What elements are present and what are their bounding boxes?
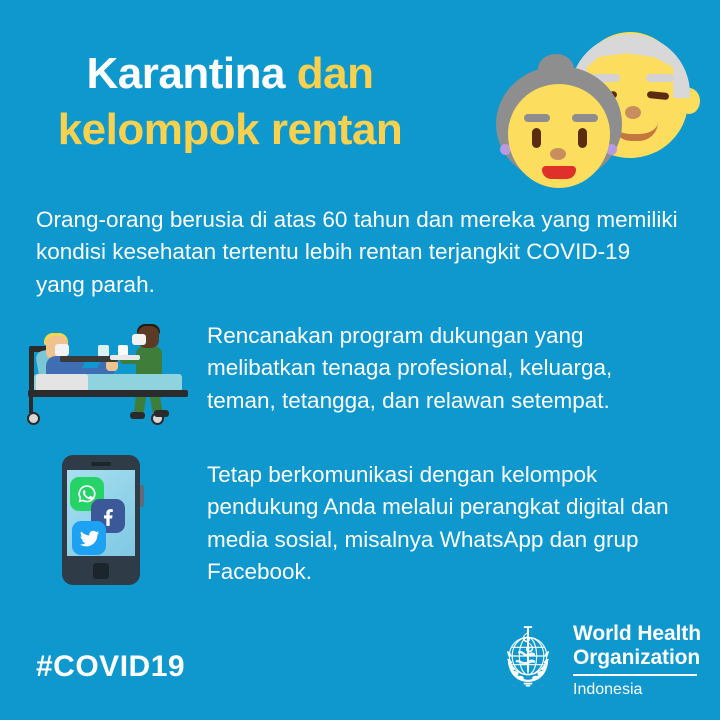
who-country-label: Indonesia <box>573 681 701 699</box>
bed-frame-rail <box>28 390 188 397</box>
who-name-line-2: Organization <box>573 646 701 670</box>
poster-title: Karantina dan kelompok rentan <box>0 46 460 159</box>
older-woman-mouth <box>542 166 576 179</box>
intro-paragraph: Orang-orang berusia di atas 60 tahun dan… <box>36 204 684 301</box>
title-word-dan: dan <box>297 49 374 98</box>
who-emblem-icon <box>492 620 564 692</box>
smartphone-illustration <box>62 455 154 587</box>
title-line-1: Karantina dan <box>0 46 460 102</box>
phone-home-button <box>93 563 109 579</box>
older-man-eyebrow-right <box>646 74 674 82</box>
caregiver-face-mask-icon <box>132 334 146 345</box>
hashtag-covid19: #COVID19 <box>36 650 185 684</box>
who-divider <box>573 674 697 676</box>
covid-quarantine-poster: Karantina dan kelompok rentan Orang-oran… <box>0 0 720 720</box>
older-woman-nose <box>550 148 566 160</box>
bed-wheel-stem-left <box>29 397 33 413</box>
who-logo: World Health Organization Indonesia <box>492 620 702 704</box>
caregiver-shoe-right <box>154 410 169 417</box>
phone-speaker <box>91 462 111 466</box>
older-man-nose <box>625 106 641 119</box>
title-word-karantina: Karantina <box>87 49 285 98</box>
phone-side-button <box>140 485 144 507</box>
older-woman-eyebrow-right <box>572 114 598 122</box>
twitter-icon <box>72 521 106 555</box>
title-line-2: kelompok rentan <box>0 102 460 158</box>
caregiver-shoe-left <box>130 412 145 419</box>
connect-paragraph: Tetap berkomunikasi dengan kelompok pend… <box>207 459 677 589</box>
support-paragraph: Rencanakan program dukungan yang melibat… <box>207 320 677 417</box>
who-wordmark: World Health Organization Indonesia <box>573 620 701 699</box>
who-name-line-1: World Health <box>573 622 701 646</box>
older-couple-icon <box>488 26 720 198</box>
hospital-bed-illustration <box>24 312 196 434</box>
older-woman-eyebrow-left <box>524 114 550 122</box>
patient-face-mask-icon <box>55 344 69 356</box>
bed-wheel-left <box>27 412 40 425</box>
caregiver-serving-tray <box>110 355 140 360</box>
older-woman-eye-left <box>532 128 541 148</box>
older-woman-eye-right <box>578 128 587 148</box>
